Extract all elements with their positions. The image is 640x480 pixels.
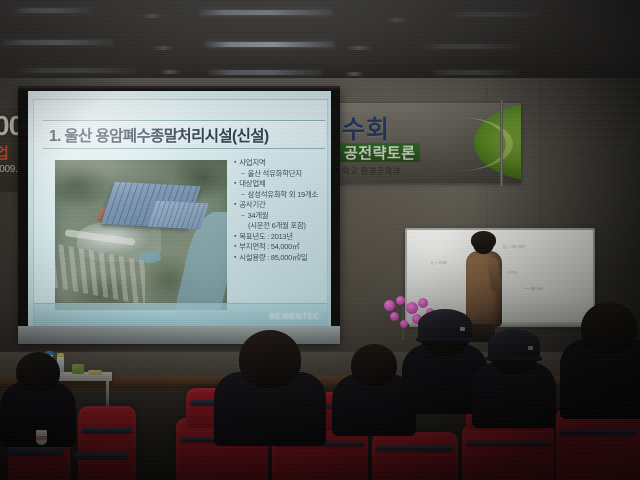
cap-logo [528,346,533,350]
attendee-right-cap [472,332,556,440]
seat-back-bar [466,441,550,446]
cap-brim [416,338,474,343]
slide-bullet: ▪대상업체 [234,179,322,190]
ceiling-vent [346,46,372,50]
ceiling-vent [140,14,164,18]
attendee-head [239,330,301,388]
banner-support-pole [500,100,503,186]
slide-bullet: ▪부지면적 : 54,000㎡ [234,242,322,253]
projection-screen: 1. 울산 용암폐수종말처리시설(신설) ▪사업지역–울산 석유화학단지▪대상업… [28,91,331,334]
auditorium-seat[interactable] [78,406,136,480]
fluorescent-light-fixture [2,40,114,45]
bullet-text: (시운전 6개월 포함) [248,221,306,232]
newentec-logo: NEWENTEC [269,312,320,321]
cap-brim [486,357,542,362]
slide-bullet: ▪사업지역 [234,158,322,169]
ceiling-vent [160,70,180,74]
fluorescent-light-fixture [200,10,332,15]
fluorescent-light-fixture [452,12,538,17]
ceiling-vent [152,46,174,50]
bullet-text: 부지면적 : 54,000㎡ [239,242,299,253]
banner-green-label: 공전략토론 [344,142,416,163]
baseball-cap [418,309,472,341]
attendee-head [581,302,637,354]
whiteboard-note: η = 0.92 [431,260,447,265]
whiteboard-note: — 34 mo [525,286,543,291]
bullet-marker: ▪ [234,200,236,210]
seat-back-bar [82,428,132,433]
bullet-marker: ▪ [234,232,236,242]
slide-bullet-list: ▪사업지역–울산 석유화학단지▪대상업체–삼성석유화학 외 19개소▪공사기간–… [234,158,322,263]
slide-bullet: ▪공사기간 [234,200,322,211]
slide-title-box: 1. 울산 용암폐수종말처리시설(신설) [43,120,325,149]
ceiling [0,0,640,84]
bullet-text: 사업지역 [239,158,265,169]
bullet-text: 공사기간 [239,200,265,211]
attendee-far-right [560,302,640,434]
fluorescent-light-fixture [208,70,322,75]
attendee-head [351,344,397,386]
banner-green-label-box: 공전략토론 [340,143,420,162]
bullet-marker: – [241,211,245,221]
presenter-hair [471,231,496,249]
bullet-marker: – [241,190,245,200]
whiteboard-note: Q = 85,000 [503,244,525,249]
bullet-text: 34개월 [248,211,269,222]
bullet-marker: ▪ [234,179,236,189]
banner-right-subtitle: 학교 환경공학과 [342,165,401,177]
slide-title: 1. 울산 용암폐수종말처리시설(신설) [43,124,269,146]
bullet-text: 시설용량 : 85,000㎡/일 [239,253,307,264]
attendee-head [16,352,60,392]
ceiling-vent [386,18,408,22]
whiteboard-note: COD [507,270,517,275]
slide-bullet: ▪목표년도 : 2013년 [234,232,322,243]
bullet-marker: ▪ [234,253,236,263]
right-event-banner: 수회 공전략토론 학교 환경공학과 [336,103,521,183]
ceiling-vent [344,72,364,76]
fluorescent-light-fixture [20,68,136,73]
slide-aerial-photo [55,160,227,310]
cup-lid [36,430,47,433]
fluorescent-light-fixture [432,70,520,75]
slide-bullet: –삼성석유화학 외 19개소 [234,190,322,201]
bullet-text: 대상업체 [239,179,265,190]
bullet-marker: ▪ [234,158,236,168]
paper-stack [88,370,102,375]
orchid-bloom [396,296,405,305]
bullet-marker: – [241,169,245,179]
fluorescent-light-fixture [424,44,520,49]
orchid-bloom [418,298,428,308]
projection-screen-frame: 1. 울산 용암폐수종말처리시설(신설) ▪사업지역–울산 석유화학단지▪대상업… [18,86,340,344]
cap-logo [460,327,465,331]
banner-right-title: 수회 [342,110,390,146]
bullet-text: 삼성석유화학 외 19개소 [248,190,318,201]
fluorescent-light-fixture [14,8,92,13]
banner-left-red-text: 업 [0,142,9,163]
slide-bullet: –울산 석유화학단지 [234,169,322,180]
baseball-cap [488,329,540,359]
slide-bullet: ▪시설용량 : 85,000㎡/일 [234,253,322,264]
lecture-hall-scene: 00 업 2009. 수회 공전략토론 학교 환경공학과 1. 울산 용암폐수종… [0,0,640,480]
orchid-bloom [384,300,395,311]
bullet-text: 울산 석유화학단지 [248,169,302,180]
photo-treatment-basin-2 [147,201,208,230]
banner-left-year: 2009. [0,164,18,175]
slide-bullet: –34개월 [234,211,322,222]
presentation-slide: 1. 울산 용암폐수종말처리시설(신설) ▪사업지역–울산 석유화학단지▪대상업… [33,99,328,327]
cup-sleeve [36,436,47,440]
banner-green-swoosh [407,103,521,183]
bullet-text: 목표년도 : 2013년 [239,232,293,243]
attendee-long-hair [214,330,326,462]
bullet-marker: ▪ [234,242,236,252]
fluorescent-light-fixture [206,42,334,47]
slide-bullet: (시운전 6개월 포함) [234,221,322,232]
orchid-bloom [390,312,399,321]
seat-armrest [74,452,128,460]
